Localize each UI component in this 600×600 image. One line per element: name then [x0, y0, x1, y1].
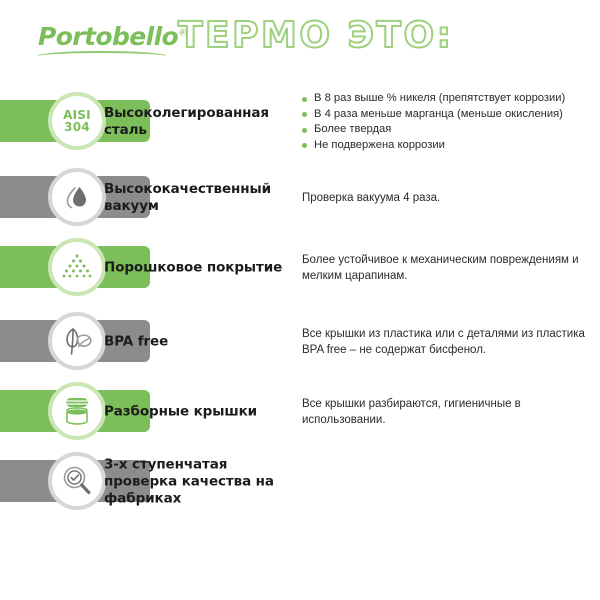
logo-swoosh-icon — [36, 51, 168, 62]
feature-description: Более устойчивое к механическим поврежде… — [302, 252, 598, 284]
feature-title: Порошковое покрытие — [104, 260, 289, 277]
feature-title: Высоколегированная сталь — [104, 105, 289, 139]
badge-line-2: 304 — [63, 121, 91, 133]
feature-title: BPA free — [104, 334, 289, 351]
badge-container — [48, 312, 106, 370]
portobello-logo: Portobello® — [38, 24, 170, 62]
feature-row-steel: AISI 304 Высоколегированная сталь В 8 ра… — [0, 92, 600, 152]
feature-title: Разборные крышки — [104, 404, 289, 421]
feature-row-detachable-lids: Разборные крышки Все крышки разбираются,… — [0, 382, 600, 442]
feature-description: Все крышки из пластика или с деталями из… — [302, 326, 598, 358]
logo-text: Portobello — [38, 22, 178, 51]
page-title: ТЕРМО ЭТО: — [178, 18, 453, 54]
feature-title: 3-х ступенчатая проверка качества на фаб… — [104, 457, 289, 508]
header: Portobello® ТЕРМО ЭТО: — [0, 0, 600, 78]
aisi-304-badge: AISI 304 — [48, 92, 106, 150]
feature-title: Высококачественный вакуум — [104, 181, 289, 215]
feature-row-powder-coating: Порошковое покрытие Более устойчивое к м… — [0, 238, 600, 298]
detachable-lid-icon — [60, 395, 94, 427]
feature-description: Все крышки разбираются, гигиеничные в ис… — [302, 396, 598, 428]
feature-row-quality-check: 3-х ступенчатая проверка качества на фаб… — [0, 452, 600, 512]
magnifier-check-icon — [60, 464, 94, 498]
badge-container — [48, 168, 106, 226]
list-item: В 8 раз выше % никеля (препятствует корр… — [302, 91, 600, 107]
list-item: Не подвержена коррозии — [302, 138, 600, 154]
feature-description: Проверка вакуума 4 раза. — [302, 190, 598, 206]
water-drop-icon — [60, 180, 94, 214]
feature-row-bpa-free: BPA free Все крышки из пластика или с де… — [0, 312, 600, 372]
feature-row-vacuum: Высококачественный вакуум Проверка вакуу… — [0, 168, 600, 228]
list-item: В 4 раза меньше марганца (меньше окислен… — [302, 107, 600, 123]
feature-bullet-list: В 8 раз выше % никеля (препятствует корр… — [302, 91, 600, 153]
logo-wordmark: Portobello® — [38, 24, 170, 49]
list-item: Более твердая — [302, 122, 600, 138]
badge-label: AISI 304 — [63, 109, 91, 133]
leaf-icon — [59, 324, 95, 358]
badge-container — [48, 238, 106, 296]
badge-container — [48, 452, 106, 510]
powder-dots-icon — [60, 252, 94, 282]
badge-container — [48, 382, 106, 440]
